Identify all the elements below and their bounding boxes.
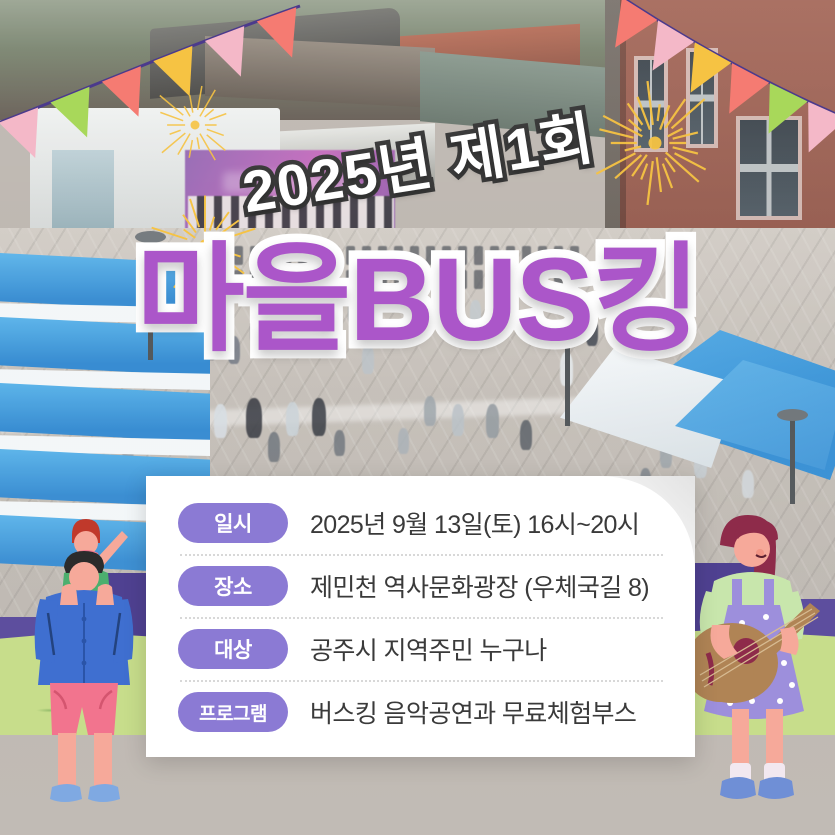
man-leg-right [94, 733, 112, 789]
girl-shoe-right [758, 777, 794, 799]
info-label-pill: 장소 [178, 566, 288, 606]
info-label-pill: 프로그램 [178, 692, 288, 732]
info-row: 대상공주시 지역주민 누구나 [178, 626, 665, 672]
event-poster: 2025년 제1회 마을BUS킹 [0, 0, 835, 835]
info-row: 일시2025년 9월 13일(토) 16시~20시 [178, 500, 665, 546]
poster-title: 마을BUS킹 [136, 203, 699, 374]
girl-leg-right [766, 709, 783, 771]
girl-arm-right [780, 627, 799, 655]
man-shoe-right [88, 784, 120, 802]
man-shoe-left [50, 784, 82, 802]
info-value: 공주시 지역주민 누구나 [310, 631, 547, 667]
info-value: 버스킹 음악공연과 무료체험부스 [310, 694, 636, 730]
info-row-list: 일시2025년 9월 13일(토) 16시~20시장소제민천 역사문화광장 (우… [146, 476, 695, 757]
girl-leg-left [732, 709, 749, 771]
info-value: 제민천 역사문화광장 (우체국길 8) [310, 568, 649, 604]
info-label-pill: 대상 [178, 629, 288, 669]
man-shorts [50, 683, 118, 735]
info-row: 프로그램버스킹 음악공연과 무료체험부스 [178, 689, 665, 735]
girl-shoe-left [720, 777, 756, 799]
info-row: 장소제민천 역사문화광장 (우체국길 8) [178, 563, 665, 609]
info-value: 2025년 9월 13일(토) 16시~20시 [310, 505, 639, 541]
father-carrying-child-illustration [6, 495, 166, 825]
info-label-pill: 일시 [178, 503, 288, 543]
row-separator [180, 617, 663, 619]
event-info-card: 일시2025년 9월 13일(토) 16시~20시장소제민천 역사문화광장 (우… [146, 476, 695, 757]
man-hand-left [60, 584, 78, 605]
row-separator [180, 680, 663, 682]
row-separator [180, 554, 663, 556]
man-hand-right [96, 584, 114, 605]
man-leg-left [58, 733, 76, 789]
